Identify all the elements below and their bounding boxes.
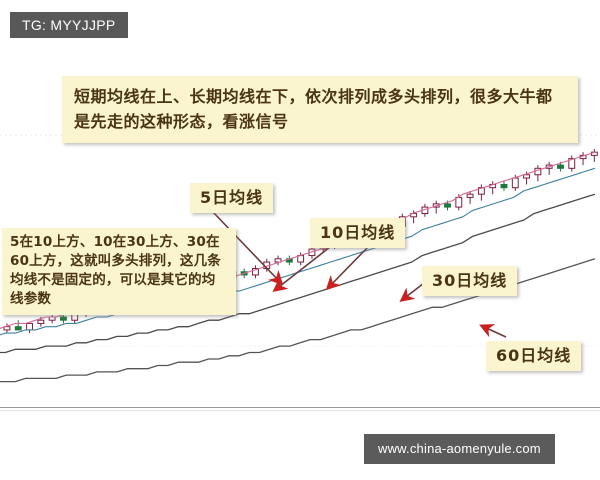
- callout-ma10-label: 10日均线: [310, 218, 405, 248]
- pane-divider-secondary: [0, 410, 600, 411]
- telegram-watermark-badge: TG: MYYJJPP: [10, 12, 128, 38]
- site-watermark-badge: www.china-aomenyule.com: [364, 434, 555, 464]
- callout-main-note: 短期均线在上、长期均线在下，依次排列成多头排列，很多大牛都是先走的这种形态，看涨…: [62, 76, 578, 143]
- pane-divider: [0, 407, 600, 408]
- callout-ma60-label: 60日均线: [486, 341, 581, 371]
- callout-ma30-label: 30日均线: [422, 266, 517, 296]
- callout-ma5-label: 5日均线: [190, 183, 273, 213]
- callout-left-note: 5在10上方、10在30上方、30在60上方，这就叫多头排列，这几条均线不是固定…: [2, 228, 236, 315]
- screenshot-root: 短期均线在上、长期均线在下，依次排列成多头排列，很多大牛都是先走的这种形态，看涨…: [0, 0, 600, 480]
